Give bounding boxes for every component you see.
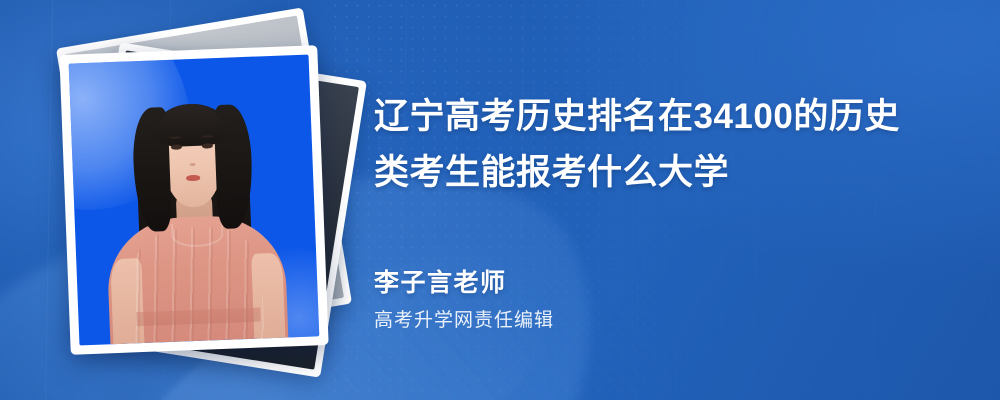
article-title: 辽宁高考历史排名在34100的历史 类考生能报考什么大学 <box>374 89 970 200</box>
banner-text-block: 辽宁高考历史排名在34100的历史 类考生能报考什么大学 李子言老师 高考升学网… <box>374 0 970 400</box>
author-photo-card <box>59 45 328 355</box>
author-info: 李子言老师 高考升学网责任编辑 <box>374 268 554 333</box>
article-title-line-1: 辽宁高考历史排名在34100的历史 <box>374 89 970 144</box>
article-header-banner: 辽宁高考历史排名在34100的历史 类考生能报考什么大学 李子言老师 高考升学网… <box>0 0 1000 400</box>
portrait-eye-right <box>202 143 213 149</box>
portrait-figure <box>69 54 320 345</box>
article-title-line-2: 类考生能报考什么大学 <box>374 145 970 200</box>
author-photo <box>69 54 320 345</box>
portrait-eye-left <box>171 144 182 150</box>
photo-card-stack <box>55 32 345 362</box>
author-name: 李子言老师 <box>374 268 554 299</box>
author-role: 高考升学网责任编辑 <box>374 310 554 333</box>
portrait-mouth <box>186 175 200 181</box>
